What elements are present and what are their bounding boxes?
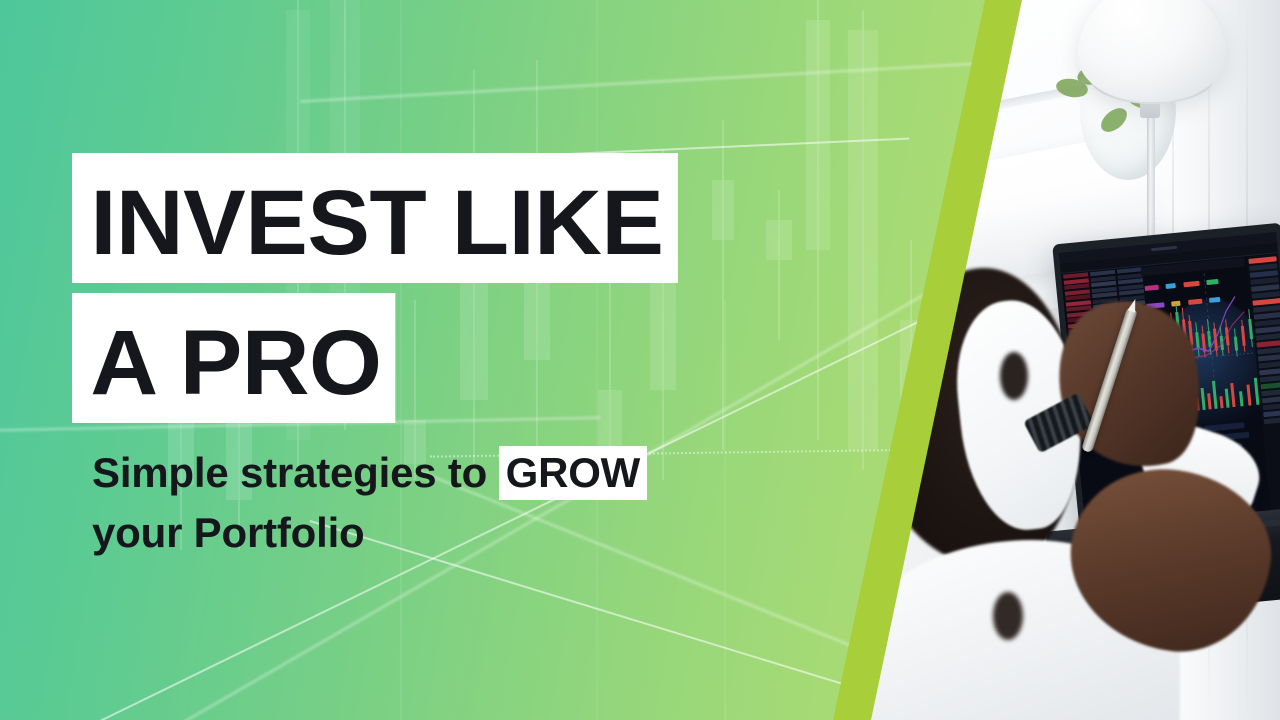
white-object-hole — [1000, 352, 1028, 400]
page-title: INVEST LIKE A PRO — [72, 153, 666, 423]
title-line-2: A PRO — [72, 293, 396, 423]
title-line-1: INVEST LIKE — [72, 153, 678, 283]
subtitle-highlight: GROW — [499, 446, 648, 500]
subtitle-prefix: Simple strategies to — [92, 449, 499, 496]
marketing-slide: INVEST LIKE A PRO Simple strategies to G… — [0, 0, 1280, 720]
subtitle-suffix: your Portfolio — [92, 509, 365, 556]
desk-lamp-icon — [1078, 0, 1226, 102]
subtitle: Simple strategies to GROW your Portfolio — [92, 443, 647, 562]
white-object-hole-lower — [993, 592, 1023, 640]
